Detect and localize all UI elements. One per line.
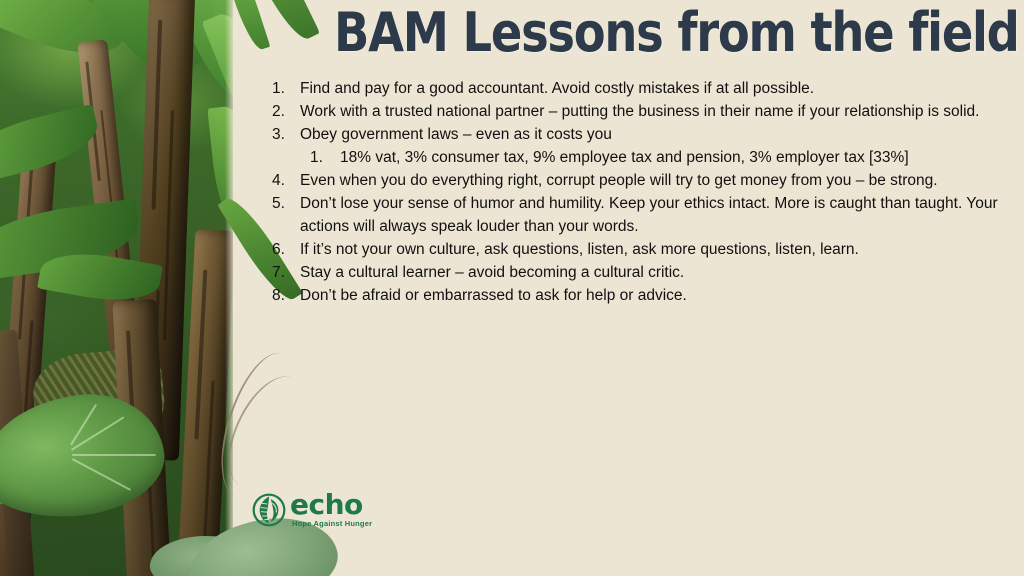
list-item: 2. Work with a trusted national partner … <box>272 100 1012 123</box>
list-item-marker: 1. <box>272 77 300 100</box>
list-item: 7. Stay a cultural learner – avoid becom… <box>272 261 1012 284</box>
echo-logo: echo Hope Against Hunger <box>252 492 372 528</box>
echo-logo-text: echo Hope Against Hunger <box>290 492 372 528</box>
list-item-marker: 3. <box>272 123 300 146</box>
echo-tagline: Hope Against Hunger <box>292 519 372 528</box>
list-item: 1. Find and pay for a good accountant. A… <box>272 77 1012 100</box>
echo-globe-leaf-icon <box>252 493 286 527</box>
list-item-text: Don’t be afraid or embarrassed to ask fo… <box>300 284 1012 307</box>
list-item-marker: 6. <box>272 238 300 261</box>
list-item: 8. Don’t be afraid or embarrassed to ask… <box>272 284 1012 307</box>
sub-list-item-marker: 1. <box>310 146 340 169</box>
list-item-text: Don’t lose your sense of humor and humil… <box>300 192 1012 238</box>
list-item-text: Work with a trusted national partner – p… <box>300 100 1012 123</box>
list-item-text: Find and pay for a good accountant. Avoi… <box>300 77 1012 100</box>
sub-list-item: 1. 18% vat, 3% consumer tax, 9% employee… <box>272 146 1012 169</box>
list-item-text: If it’s not your own culture, ask questi… <box>300 238 1012 261</box>
slide-title: BAM Lessons from the field <box>334 2 936 64</box>
list-item: 5. Don’t lose your sense of humor and hu… <box>272 192 1012 238</box>
list-item-marker: 2. <box>272 100 300 123</box>
list-item-text: Even when you do everything right, corru… <box>300 169 1012 192</box>
slide: BAM Lessons from the field 1. Find and p… <box>0 0 1024 576</box>
list-item-marker: 8. <box>272 284 300 307</box>
list-item: 4. Even when you do everything right, co… <box>272 169 1012 192</box>
lessons-list: 1. Find and pay for a good accountant. A… <box>272 77 1012 307</box>
list-item-text: Stay a cultural learner – avoid becoming… <box>300 261 1012 284</box>
list-item-marker: 5. <box>272 192 300 215</box>
list-item-marker: 7. <box>272 261 300 284</box>
sub-list-item-text: 18% vat, 3% consumer tax, 9% employee ta… <box>340 146 1012 169</box>
list-item: 3. Obey government laws – even as it cos… <box>272 123 1012 146</box>
list-item: 6. If it’s not your own culture, ask que… <box>272 238 1012 261</box>
list-item-text: Obey government laws – even as it costs … <box>300 123 1012 146</box>
echo-wordmark: echo <box>290 492 372 518</box>
list-item-marker: 4. <box>272 169 300 192</box>
banana-plantation-photo <box>0 0 233 576</box>
